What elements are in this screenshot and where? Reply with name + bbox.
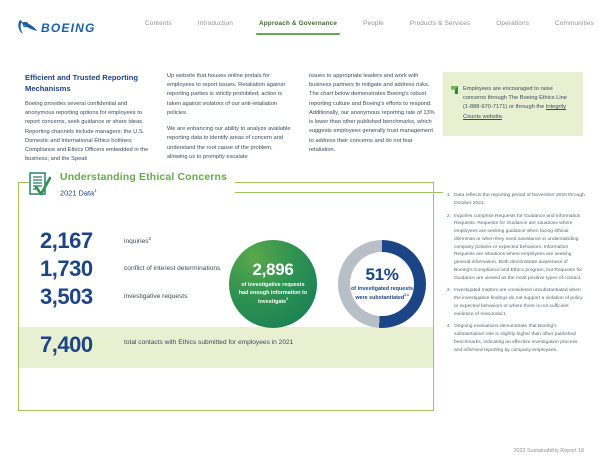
footnote-number: 2. xyxy=(444,213,451,283)
footnote-text: Ongoing evaluations demonstrate that Boe… xyxy=(454,323,586,354)
panel-subtitle-text: 2021 Data xyxy=(60,189,94,198)
article-paragraph-3: We are enhancing our ability to analyze … xyxy=(167,125,293,162)
article-column-3: issues to appropriate leaders and work w… xyxy=(309,72,435,172)
nav-item-operations[interactable]: Operations xyxy=(483,20,542,35)
stat-label-text: inquiries xyxy=(124,238,149,245)
total-contacts-label: total contacts with Ethics submitted for… xyxy=(124,333,293,348)
panel-header: Understanding Ethical Concerns 2021 Data… xyxy=(29,171,235,205)
footnote-text: Investigated matters are considered unsu… xyxy=(454,287,586,318)
stat-number: 3,503 xyxy=(40,285,124,308)
stat-footnote-marker: 2 xyxy=(149,236,151,241)
footnote-text: Inquiries comprise Requests for Guidance… xyxy=(454,213,586,283)
footnote-2: 2. Inquiries comprise Requests for Guida… xyxy=(444,213,586,283)
nav-item-people[interactable]: People xyxy=(350,20,397,35)
article-columns: Efficient and Trusted Reporting Mechanis… xyxy=(25,72,435,172)
total-contacts-row: 7,400 total contacts with Ethics submitt… xyxy=(40,333,293,356)
article-column-2: Up website that houses online portals fo… xyxy=(167,72,293,172)
stats-list: 2,167 inquiries2 1,730 conflict of inter… xyxy=(40,229,230,313)
stat-row-conflict-of-interest: 1,730 conflict of interest determination… xyxy=(40,257,230,280)
stat-label: conflict of interest determinations xyxy=(124,257,220,274)
article-paragraph-4: issues to appropriate leaders and work w… xyxy=(309,72,435,155)
solid-circle-chart-investigative-requests: 2,896 of investigative requests had enou… xyxy=(229,240,317,328)
section-heading: Efficient and Trusted Reporting Mechanis… xyxy=(25,72,151,94)
article-paragraph-1: Boeing provides several confidential and… xyxy=(25,100,151,165)
stat-row-investigative-requests: 3,503 investigative requests xyxy=(40,285,230,308)
footnote-number: 1. xyxy=(444,192,451,208)
donut-chart-caption: of investigated requests were substantia… xyxy=(351,286,413,303)
top-navigation-bar: BOEING Contents Introduction Approach & … xyxy=(0,0,600,47)
quote-mark-icon xyxy=(451,86,458,94)
donut-chart-substantiated: 51% of investigated requests were substa… xyxy=(338,240,426,328)
panel-title: Understanding Ethical Concerns xyxy=(60,173,227,183)
page-footer: 2022 Sustainability Report 18 xyxy=(514,448,584,454)
footnote-text: Data reflects the reporting period of No… xyxy=(454,192,586,208)
footnote-number: 4. xyxy=(444,323,451,354)
donut-chart-value: 51% xyxy=(365,266,398,283)
stat-number: 2,167 xyxy=(40,229,124,252)
svg-text:BOEING: BOEING xyxy=(41,21,96,35)
solid-circle-caption: of investigative requests had enough inf… xyxy=(237,282,309,306)
ethics-line-callout: Employees are encouraged to raise concer… xyxy=(443,72,583,136)
footnote-4: 4. Ongoing evaluations demonstrate that … xyxy=(444,323,586,354)
boeing-logo[interactable]: BOEING xyxy=(17,17,113,37)
nav-item-communities[interactable]: Communities xyxy=(542,20,600,35)
stat-number: 1,730 xyxy=(40,257,124,280)
stat-label: investigative requests xyxy=(124,285,187,302)
donut-chart-center: 51% of investigated requests were substa… xyxy=(350,252,414,316)
nav-item-introduction[interactable]: Introduction xyxy=(185,20,246,35)
callout-text-tail: . xyxy=(502,114,504,120)
donut-chart-footnote-marker: 3,4 xyxy=(404,293,409,297)
total-contacts-number: 7,400 xyxy=(40,333,124,356)
article-paragraph-2: Up website that houses online portals fo… xyxy=(167,72,293,118)
panel-subtitle: 2021 Data1 xyxy=(60,189,227,197)
nav-items: Contents Introduction Approach & Governa… xyxy=(132,20,600,35)
nav-item-products-and-services[interactable]: Products & Services xyxy=(397,20,483,35)
solid-circle-footnote-marker: 3 xyxy=(286,297,288,301)
callout-text: Employees are encouraged to raise concer… xyxy=(463,85,573,122)
article-column-1: Efficient and Trusted Reporting Mechanis… xyxy=(25,72,151,172)
nav-item-approach-and-governance[interactable]: Approach & Governance xyxy=(246,20,350,35)
footnote-3: 3. Investigated matters are considered u… xyxy=(444,287,586,318)
checklist-check-icon xyxy=(29,172,51,196)
footnotes-list: 1. Data reflects the reporting period of… xyxy=(444,192,586,359)
footnote-number: 3. xyxy=(444,287,451,318)
footnote-1: 1. Data reflects the reporting period of… xyxy=(444,192,586,208)
panel-subtitle-footnote-marker: 1 xyxy=(94,188,96,193)
stat-label: inquiries2 xyxy=(124,229,151,247)
solid-circle-value: 2,896 xyxy=(252,261,293,278)
stat-row-inquiries: 2,167 inquiries2 xyxy=(40,229,230,252)
solid-circle-caption-text: of investigative requests had enough inf… xyxy=(239,282,307,305)
nav-item-contents[interactable]: Contents xyxy=(132,20,185,35)
